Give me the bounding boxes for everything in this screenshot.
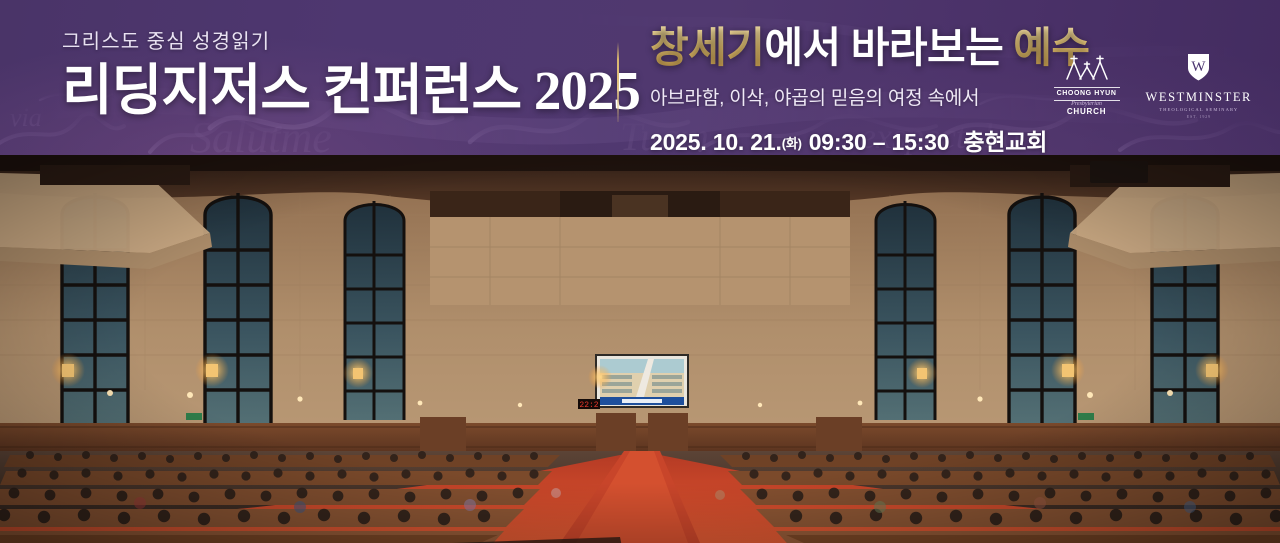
page-title: 리딩지저스 컨퍼런스 2025 (62, 61, 640, 120)
logo-westminster: W WESTMINSTER THEOLOGICAL SEMINARY EST. … (1146, 52, 1253, 119)
header-band: Salutme Tuam exspectabo via 그리스도 중심 성경읽기… (0, 0, 1280, 155)
westminster-sub-line: THEOLOGICAL SEMINARY (1159, 107, 1238, 112)
church-name-line: CHOONG HYUN (1054, 87, 1120, 101)
date-time-venue: 2025. 10. 21.(화)09:30 – 15:30충현교회 (650, 123, 1090, 155)
conference-banner: Salutme Tuam exspectabo via 그리스도 중심 성경읽기… (0, 0, 1280, 543)
event-time: 09:30 – 15:30 (809, 129, 950, 155)
right-info-block: 창세기에서 바라보는 예수 아브라함, 이삭, 야곱의 믿음의 여정 속에서 2… (650, 24, 1090, 155)
svg-text:via: via (10, 103, 42, 132)
headline: 창세기에서 바라보는 예수 (650, 24, 1090, 74)
sanctuary-photo: 22:2 (0, 155, 1280, 543)
headline-white-middle: 에서 바라보는 (764, 26, 1013, 72)
event-venue: 충현교회 (963, 129, 1047, 155)
logo-choong-hyun-church: CHOONG HYUN Presbyterian CHURCH (1054, 54, 1120, 117)
svg-text:W: W (1192, 59, 1207, 75)
event-weekday: (화) (782, 136, 802, 151)
vertical-divider (617, 42, 619, 122)
westminster-est-line: EST. 1929 (1187, 114, 1211, 119)
church-spires-icon (1061, 54, 1113, 85)
eyebrow-text: 그리스도 중심 성경읽기 (62, 30, 640, 54)
church-script-line: Presbyterian (1071, 101, 1102, 108)
logo-group: CHOONG HYUN Presbyterian CHURCH W WESTMI… (1054, 52, 1252, 119)
subheadline: 아브라함, 이삭, 야곱의 믿음의 여정 속에서 (650, 83, 1090, 110)
left-title-block: 그리스도 중심 성경읽기 리딩지저스 컨퍼런스 2025 (62, 30, 640, 120)
shield-w-crest-icon: W (1186, 52, 1211, 87)
headline-gold-first: 창세기 (650, 26, 764, 72)
westminster-name-line: WESTMINSTER (1146, 90, 1253, 105)
church-word-line: CHURCH (1067, 107, 1106, 117)
event-date: 2025. 10. 21. (650, 129, 782, 155)
